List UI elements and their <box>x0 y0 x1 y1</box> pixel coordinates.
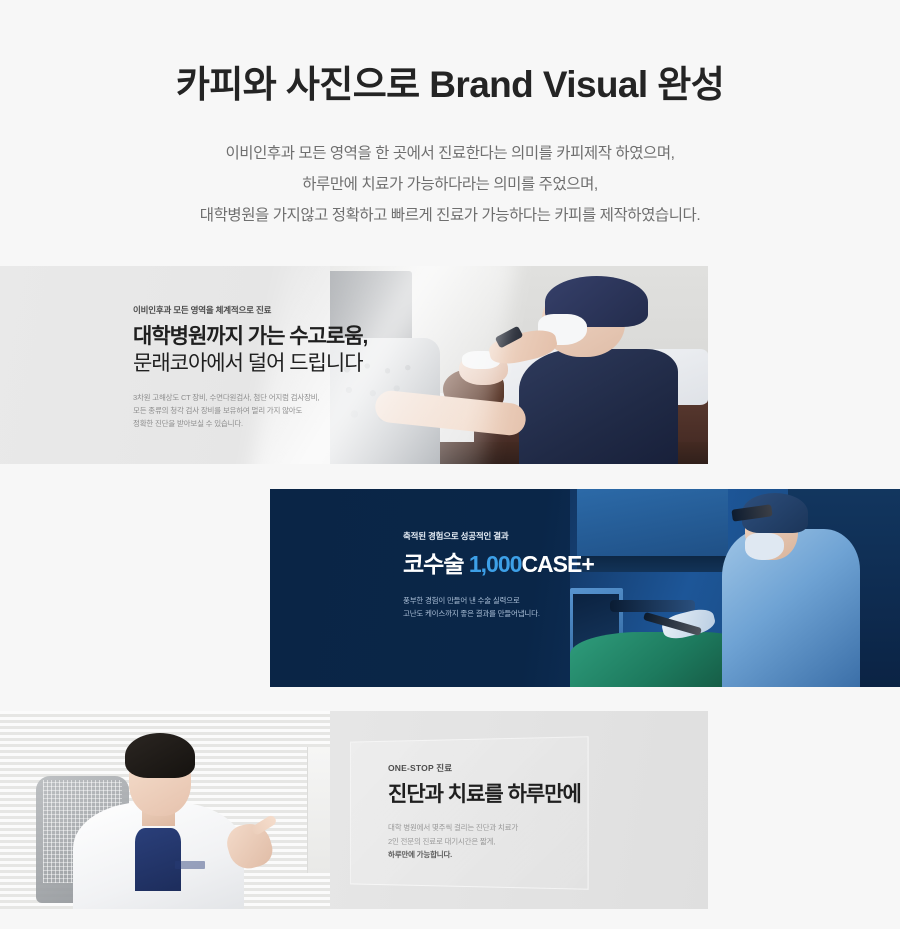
banner-ultrasound-subcopy: 3차원 고해상도 CT 장비, 수면다원검사, 첨단 어지럼 검사장비, 모든 … <box>133 391 367 430</box>
banner-onestop-subcopy: 대학 병원에서 몇주씩 걸리는 진단과 치료가 2인 전문의 진료로 대기시간은… <box>388 821 581 860</box>
banner-ultrasound-headline-line-2: 문래코아에서 덜어 드립니다 <box>133 350 367 377</box>
banner-surgery-headline: 코수술 1,000CASE+ <box>403 550 594 580</box>
page-title: 카피와 사진으로 Brand Visual 완성 <box>0 62 900 108</box>
banner-ultrasound-subcopy-line-1: 3차원 고해상도 CT 장비, 수면다원검사, 첨단 어지럼 검사장비, <box>133 391 367 404</box>
banner-surgery-headline-prefix: 코수술 <box>403 551 469 577</box>
banner-ultrasound-subcopy-line-2: 모든 종류의 청각 검사 장비를 보유하여 멀리 가지 않아도 <box>133 404 367 417</box>
banner-surgery-eyebrow: 축적된 경험으로 성공적인 결과 <box>403 531 594 541</box>
banner-ultrasound-copy: 이비인후과 모든 영역을 체계적으로 진료 대학병원까지 가는 수고로움, 문래… <box>133 305 367 430</box>
banner-surgery-subcopy-line-1: 풍부한 경험이 만들어 낸 수술 실력으로 <box>403 594 594 607</box>
photo-surgeon-gown <box>722 529 861 687</box>
page-root: 카피와 사진으로 Brand Visual 완성 이비인후과 모든 영역을 한 … <box>0 0 900 929</box>
banner-surgery-subcopy-line-2: 고난도 케이스까지 좋은 결과를 만들어냅니다. <box>403 607 594 620</box>
photo-overhead-cabinet <box>577 489 729 556</box>
intro-description-line-3: 대학병원을 가지않고 정확하고 빠르게 진료가 가능하다는 카피를 제작하였습니… <box>0 200 900 231</box>
banner-ultrasound: 이비인후과 모든 영역을 체계적으로 진료 대학병원까지 가는 수고로움, 문래… <box>0 266 708 464</box>
banner-surgery-headline-number: 1,000 <box>469 551 522 577</box>
banner-onestop-subcopy-line-2-a: 2인 전문의 진료로 대기시간은 짧게, <box>388 835 581 848</box>
photo-doctor-hair <box>125 733 194 779</box>
photo-doctor-name-badge <box>175 861 205 869</box>
banner-surgery-photo <box>570 489 900 687</box>
banner-ultrasound-headline-line-1: 대학병원까지 가는 수고로움, <box>133 323 367 350</box>
banner-onestop-eyebrow: ONE-STOP 진료 <box>388 763 581 773</box>
banner-onestop-subcopy-line-2-b: 하루만에 가능합니다. <box>388 848 581 861</box>
intro-description-line-1: 이비인후과 모든 영역을 한 곳에서 진료한다는 의미를 카피제작 하였으며, <box>0 138 900 169</box>
banner-surgery: 축적된 경험으로 성공적인 결과 코수술 1,000CASE+ 풍부한 경험이 … <box>270 489 900 687</box>
banner-onestop-headline: 진단과 치료를 하루만에 <box>388 781 581 808</box>
banner-onestop: ONE-STOP 진료 진단과 치료를 하루만에 대학 병원에서 몇주씩 걸리는… <box>0 711 708 909</box>
banner-surgery-copy: 축적된 경험으로 성공적인 결과 코수술 1,000CASE+ 풍부한 경험이 … <box>403 531 594 620</box>
photo-clinic-cabinet <box>307 747 330 874</box>
intro-description: 이비인후과 모든 영역을 한 곳에서 진료한다는 의미를 카피제작 하였으며, … <box>0 138 900 231</box>
banner-surgery-headline-suffix: CASE+ <box>521 551 593 577</box>
banner-onestop-subcopy-line-2: 2인 전문의 진료로 대기시간은 짧게, 하루만에 가능합니다. <box>388 835 581 861</box>
banner-ultrasound-headline: 대학병원까지 가는 수고로움, 문래코아에서 덜어 드립니다 <box>133 323 367 378</box>
banner-surgery-subcopy: 풍부한 경험이 만들어 낸 수술 실력으로 고난도 케이스까지 좋은 결과를 만… <box>403 594 594 620</box>
intro-section: 카피와 사진으로 Brand Visual 완성 이비인후과 모든 영역을 한 … <box>0 0 900 231</box>
photo-cabinet-shadow <box>577 556 729 572</box>
banner-onestop-subcopy-line-1: 대학 병원에서 몇주씩 걸리는 진단과 치료가 <box>388 821 581 834</box>
photo-doctor-inner-shirt <box>135 828 181 891</box>
banner-onestop-photo <box>0 711 330 909</box>
banner-ultrasound-eyebrow: 이비인후과 모든 영역을 체계적으로 진료 <box>133 305 367 315</box>
photo-endoscope-cable <box>610 600 696 612</box>
intro-description-line-2: 하루만에 치료가 가능하다라는 의미를 주었으며, <box>0 169 900 200</box>
banner-onestop-copy: ONE-STOP 진료 진단과 치료를 하루만에 대학 병원에서 몇주씩 걸리는… <box>388 763 581 861</box>
photo-doctor-scrubs <box>519 349 678 464</box>
banner-ultrasound-subcopy-line-3: 정확한 진단을 받아보실 수 있습니다. <box>133 417 367 430</box>
